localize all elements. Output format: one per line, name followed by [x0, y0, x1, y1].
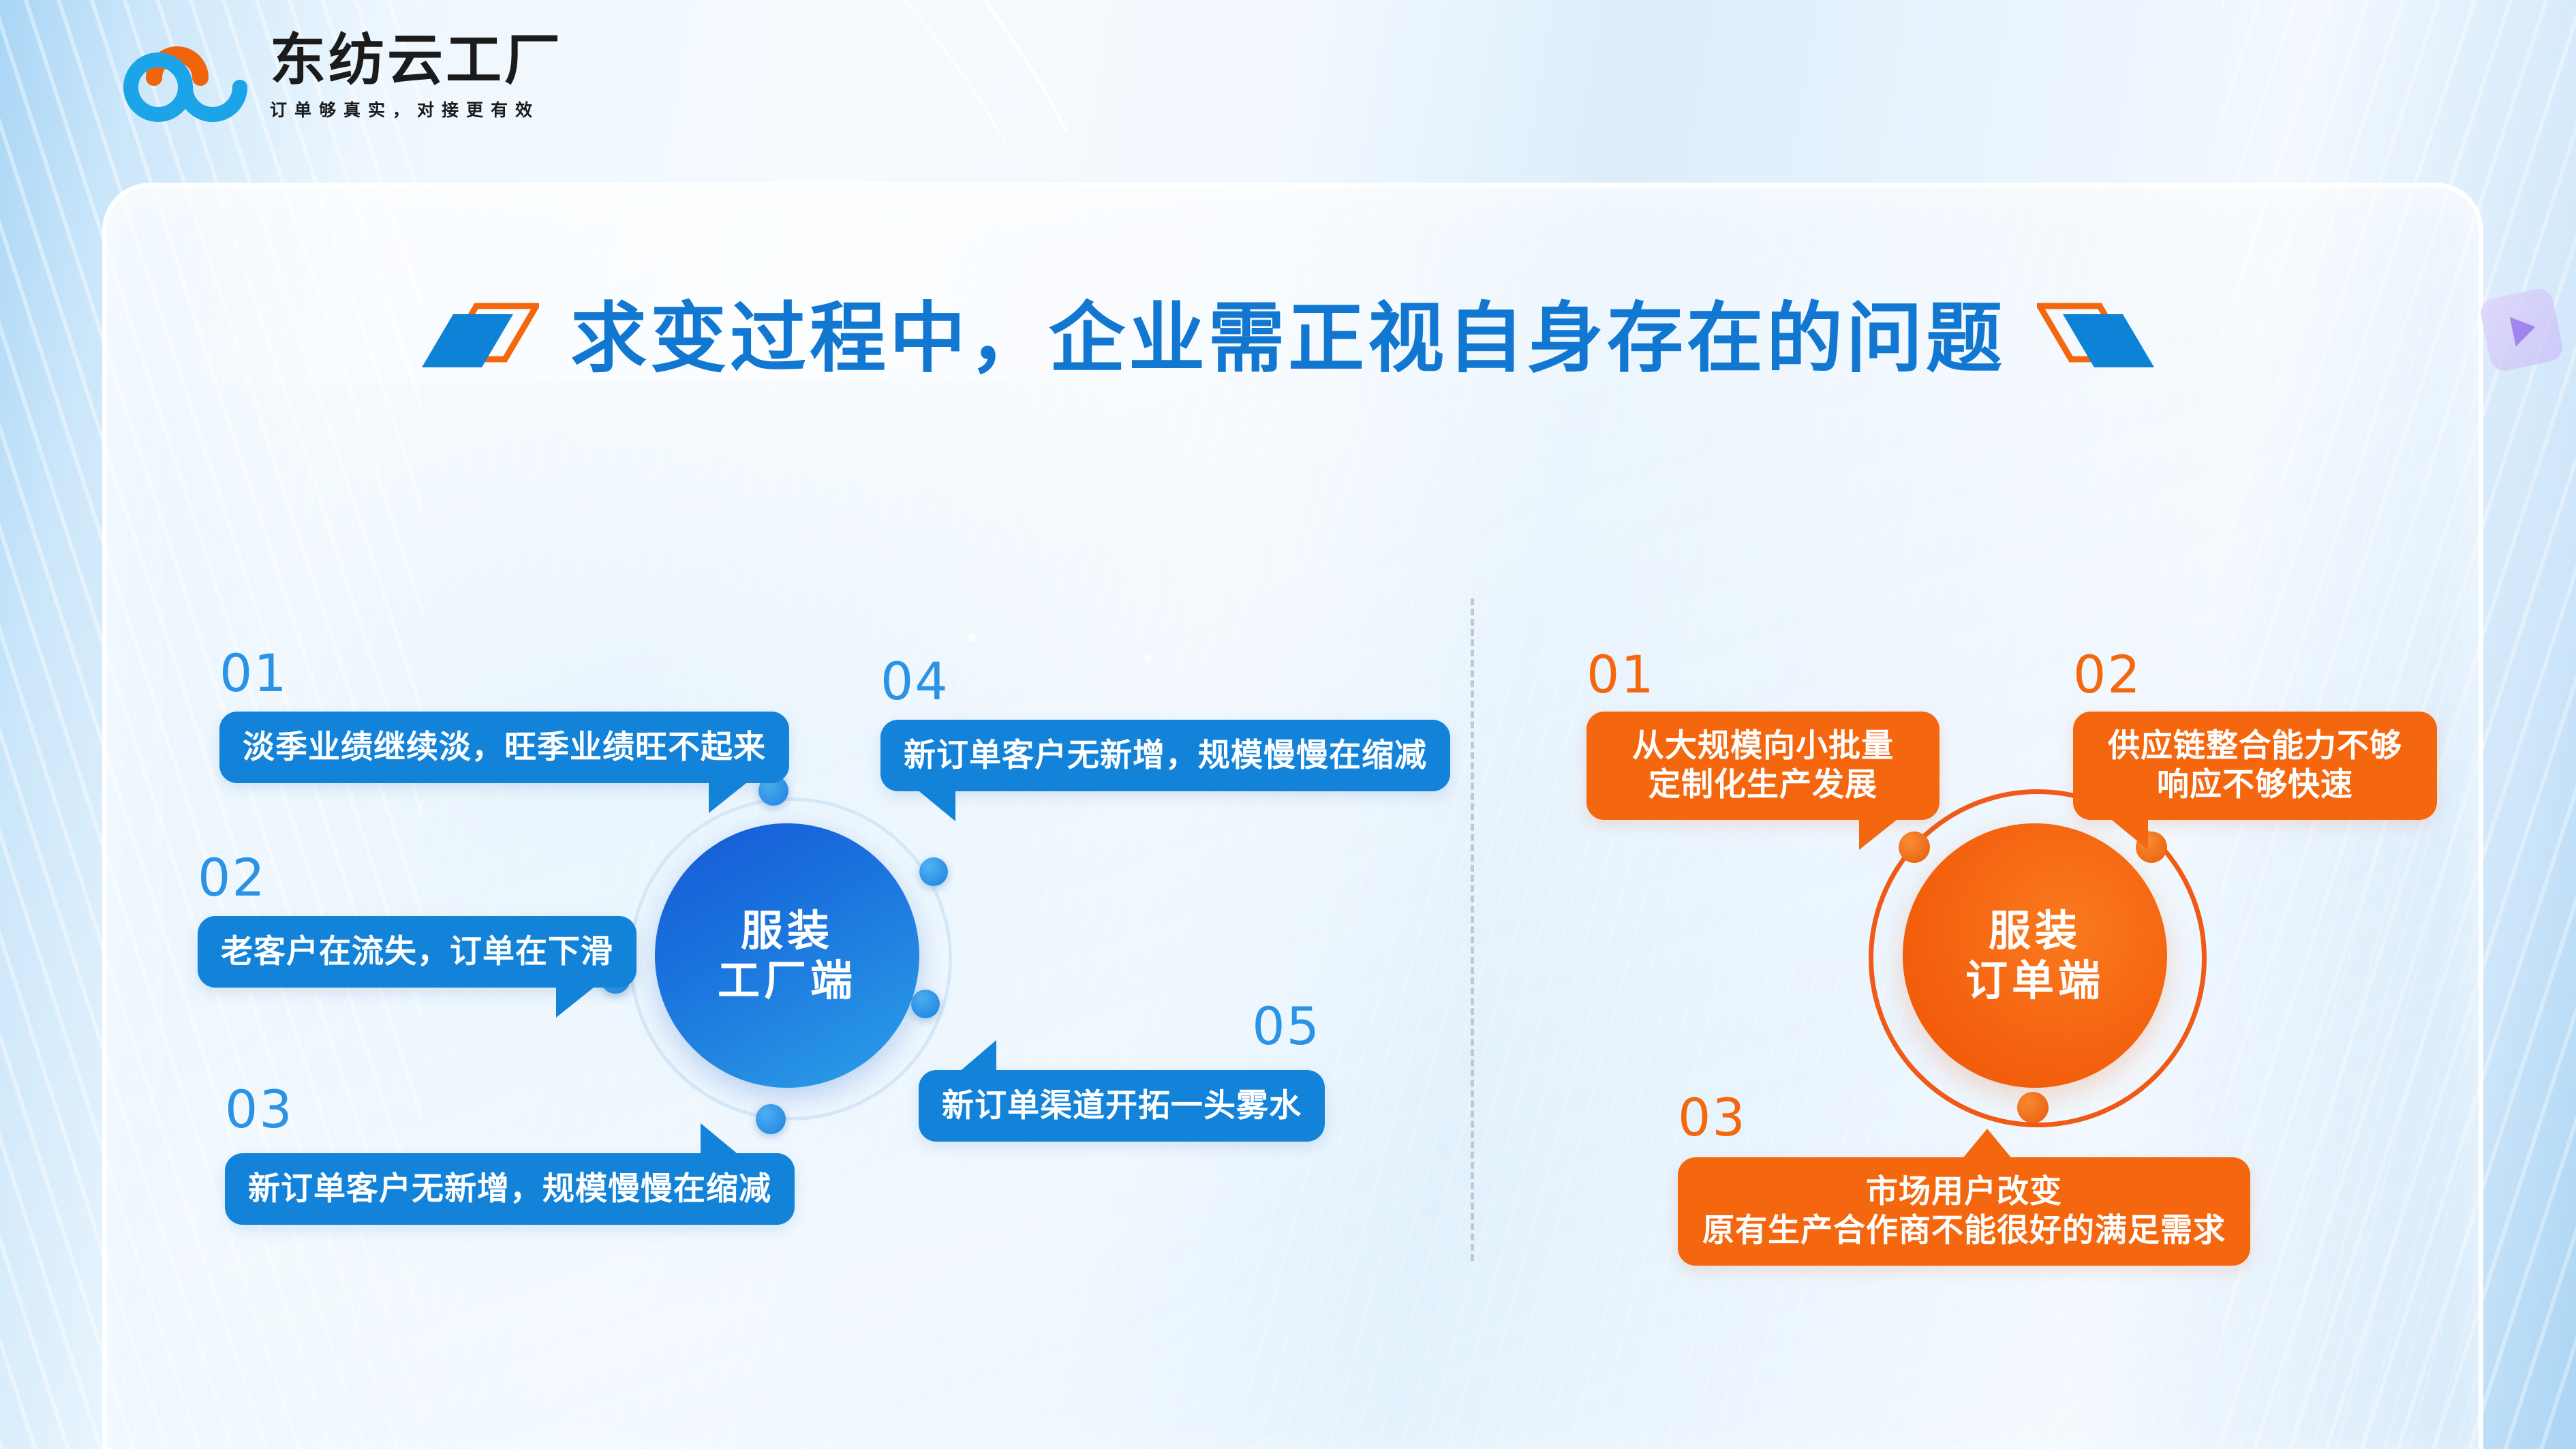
item-text-line1: 从大规模向小批量 — [1610, 727, 1916, 765]
item-bubble[interactable]: 老客户在流失，订单在下滑 — [198, 916, 637, 988]
hub-node-dot — [919, 857, 948, 886]
item-bubble[interactable]: 供应链整合能力不够 响应不够快速 — [2073, 712, 2437, 820]
item-bubble[interactable]: 新订单客户无新增，规模慢慢在缩减 — [225, 1153, 795, 1225]
item-text: 老客户在流失，订单在下滑 — [221, 933, 613, 971]
section-divider — [1471, 598, 1474, 1261]
right-item-03[interactable]: 03 市场用户改变 原有生产合作商不能很好的满足需求 — [1678, 1092, 2250, 1266]
hub-factory-label: 服装 工厂端 — [655, 823, 919, 1088]
item-text-line2: 定制化生产发展 — [1610, 765, 1916, 804]
bubble-tail — [1961, 1129, 2013, 1160]
item-number: 02 — [2073, 649, 2437, 701]
left-item-04[interactable]: 04 新订单客户无新增，规模慢慢在缩减 — [880, 656, 1450, 791]
bubble-tail — [701, 1123, 740, 1156]
item-bubble[interactable]: 从大规模向小批量 定制化生产发展 — [1586, 712, 1939, 820]
page-title-row: 求变过程中，企业需正视自身存在的问题 — [0, 267, 2576, 397]
item-number: 04 — [880, 656, 1450, 707]
double-cloud-logo-icon — [123, 37, 259, 125]
item-text-line1: 供应链整合能力不够 — [2096, 727, 2414, 765]
hub-order-label: 服装 订单端 — [1903, 823, 2167, 1088]
bubble-tail — [958, 1040, 996, 1073]
item-text-line2: 响应不够快速 — [2096, 765, 2414, 804]
item-bubble[interactable]: 新订单渠道开拓一头雾水 — [919, 1070, 1325, 1142]
bubble-tail — [916, 789, 955, 821]
item-text: 新订单客户无新增，规模慢慢在缩减 — [904, 737, 1427, 774]
item-bubble[interactable]: 市场用户改变 原有生产合作商不能很好的满足需求 — [1678, 1157, 2250, 1266]
left-item-05[interactable]: 05 新订单渠道开拓一头雾水 — [919, 1001, 1325, 1142]
brand-name: 东纺云工厂 — [270, 33, 563, 89]
item-text: 新订单客户无新增，规模慢慢在缩减 — [248, 1170, 771, 1208]
hub-label-line1: 服装 — [1989, 906, 2081, 956]
parallelogram-pair-right-icon — [2037, 288, 2173, 376]
item-number: 02 — [198, 852, 637, 904]
item-text: 新订单渠道开拓一头雾水 — [942, 1087, 1302, 1125]
item-bubble[interactable]: 新订单客户无新增，规模慢慢在缩减 — [880, 720, 1450, 791]
parallelogram-pair-left-icon — [403, 288, 539, 376]
left-item-02[interactable]: 02 老客户在流失，订单在下滑 — [198, 852, 637, 988]
left-item-01[interactable]: 01 淡季业绩继续淡，旺季业绩旺不起来 — [219, 647, 789, 783]
hub-node-dot — [1899, 832, 1930, 863]
item-bubble[interactable]: 淡季业绩继续淡，旺季业绩旺不起来 — [219, 712, 789, 783]
item-number: 01 — [219, 647, 789, 699]
right-item-01[interactable]: 01 从大规模向小批量 定制化生产发展 — [1586, 649, 1939, 820]
page-title: 求变过程中，企业需正视自身存在的问题 — [570, 277, 2006, 387]
hub-label-line2: 订单端 — [1965, 956, 2104, 1005]
left-item-03[interactable]: 03 新订单客户无新增，规模慢慢在缩减 — [225, 1084, 795, 1225]
hub-label-line1: 服装 — [741, 906, 833, 956]
brand-tagline: 订单够真实，对接更有效 — [270, 97, 563, 121]
hub-label-line2: 工厂端 — [718, 956, 857, 1005]
slide-root: 东纺云工厂 订单够真实，对接更有效 求变过程中，企业需正视自身存在的问题 服装 … — [0, 0, 2576, 1449]
bubble-tail — [2109, 817, 2148, 850]
bubble-tail — [1859, 817, 1900, 850]
hub-factory[interactable]: 服装 工厂端 — [617, 785, 957, 1126]
bubble-tail — [556, 985, 597, 1018]
item-number: 01 — [1586, 649, 1939, 701]
bubble-tail — [709, 780, 750, 813]
item-text-line2: 原有生产合作商不能很好的满足需求 — [1701, 1211, 2227, 1250]
right-item-02[interactable]: 02 供应链整合能力不够 响应不够快速 — [2073, 649, 2437, 820]
hub-order[interactable]: 服装 订单端 — [1865, 785, 2205, 1126]
brand-logo: 东纺云工厂 订单够真实，对接更有效 — [123, 33, 563, 125]
item-text: 淡季业绩继续淡，旺季业绩旺不起来 — [243, 729, 766, 766]
item-text-line1: 市场用户改变 — [1701, 1172, 2227, 1211]
